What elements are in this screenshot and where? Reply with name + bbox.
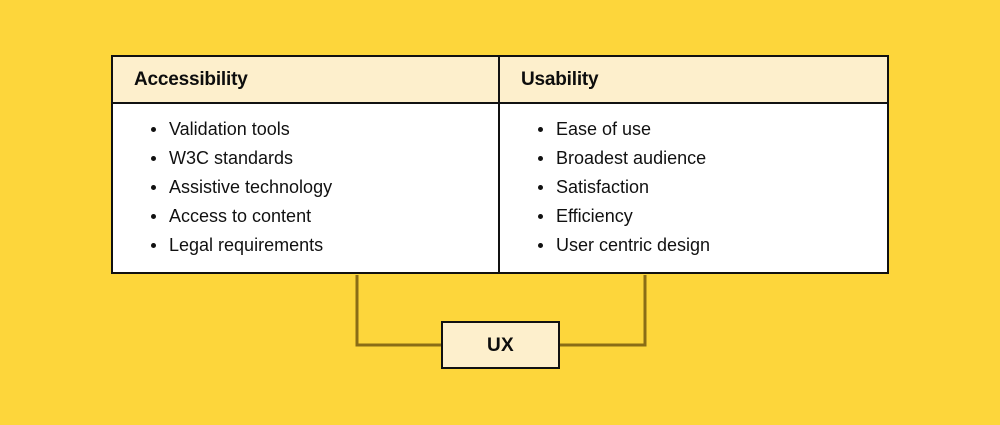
list-item: Validation tools: [113, 117, 498, 146]
ux-node: UX: [441, 321, 560, 369]
bullet-icon: [538, 127, 543, 132]
connector-left-branch: [357, 275, 441, 345]
list-item: Broadest audience: [500, 146, 887, 175]
bullet-icon: [151, 156, 156, 161]
list-item: Satisfaction: [500, 175, 887, 204]
list-item: Access to content: [113, 204, 498, 233]
list-item-label: Assistive technology: [169, 175, 332, 200]
bullet-icon: [151, 243, 156, 248]
list-item-label: Broadest audience: [556, 146, 706, 171]
bullet-icon: [538, 214, 543, 219]
comparison-table: Accessibility Validation tools W3C stand…: [111, 55, 889, 274]
ux-node-label: UX: [487, 336, 514, 355]
list-item-label: Satisfaction: [556, 175, 649, 200]
column-body-accessibility: Validation tools W3C standards Assistive…: [113, 104, 498, 272]
list-item-label: Efficiency: [556, 204, 633, 229]
column-title-accessibility: Accessibility: [134, 70, 248, 89]
column-usability: Usability Ease of use Broadest audience …: [500, 57, 887, 272]
column-header-accessibility: Accessibility: [113, 57, 498, 104]
bullet-icon: [151, 185, 156, 190]
list-item: Assistive technology: [113, 175, 498, 204]
connector-right-branch: [560, 275, 645, 345]
bullet-list-accessibility: Validation tools W3C standards Assistive…: [113, 117, 498, 262]
column-body-usability: Ease of use Broadest audience Satisfacti…: [500, 104, 887, 272]
bullet-icon: [538, 156, 543, 161]
list-item-label: W3C standards: [169, 146, 293, 171]
bullet-icon: [151, 127, 156, 132]
column-title-usability: Usability: [521, 70, 598, 89]
list-item: User centric design: [500, 233, 887, 262]
list-item: Legal requirements: [113, 233, 498, 262]
bullet-icon: [538, 243, 543, 248]
list-item-label: Validation tools: [169, 117, 290, 142]
list-item-label: Access to content: [169, 204, 311, 229]
list-item-label: Legal requirements: [169, 233, 323, 258]
bullet-list-usability: Ease of use Broadest audience Satisfacti…: [500, 117, 887, 262]
bullet-icon: [538, 185, 543, 190]
list-item: W3C standards: [113, 146, 498, 175]
diagram-canvas: Accessibility Validation tools W3C stand…: [0, 0, 1000, 425]
list-item-label: User centric design: [556, 233, 710, 258]
list-item-label: Ease of use: [556, 117, 651, 142]
list-item: Efficiency: [500, 204, 887, 233]
column-accessibility: Accessibility Validation tools W3C stand…: [113, 57, 500, 272]
bullet-icon: [151, 214, 156, 219]
list-item: Ease of use: [500, 117, 887, 146]
column-header-usability: Usability: [500, 57, 887, 104]
